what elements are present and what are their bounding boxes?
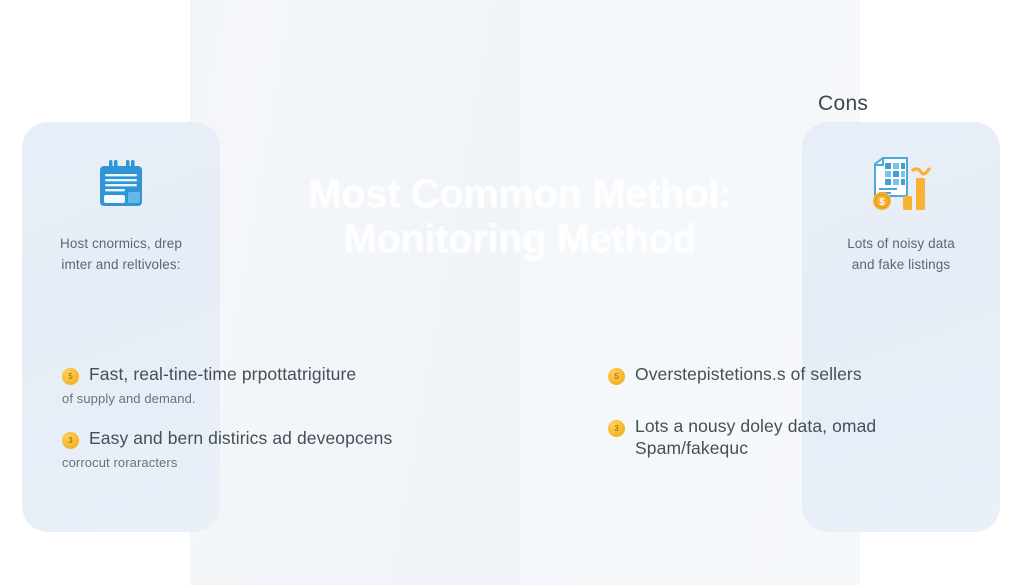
bullet-text: Lots a nousy doley data, omad Spam/fakeq… [635, 416, 876, 460]
slide-canvas: Most Common Methol: Monitoring Method Ho… [0, 0, 1024, 585]
bullet-text: Fast, real-tine-time prpottatrigiture [89, 364, 356, 386]
bullet-spacer [608, 390, 938, 416]
bullet-subtext: corrocut roraracters [62, 454, 462, 472]
bullet-text: Easy and bern distirics ad deveopcens [89, 428, 392, 450]
page-title: Most Common Methol: Monitoring Method [250, 172, 790, 262]
bullet-text-line2: Spam/fakequc [635, 438, 876, 460]
pros-caption-line1: Host cnormics, drep [34, 234, 208, 255]
page-title-line1: Most Common Methol: [308, 172, 731, 216]
list-item[interactable]: 5 Overstepistetions.s of sellers [608, 364, 938, 386]
bullet-badge-icon: 5 [62, 368, 79, 385]
spreadsheet-chart-money-icon: $ [802, 148, 1000, 222]
cons-card[interactable]: $ Lots of noisy data and fake listings [802, 122, 1000, 532]
notepad-document-icon [22, 148, 220, 222]
pros-card-caption: Host cnormics, drep imter and reltivoles… [34, 234, 208, 276]
bullet-subtext: of supply and demand. [62, 390, 462, 408]
list-item[interactable]: 5 Fast, real-tine-time prpottatrigiture [62, 364, 462, 386]
list-item[interactable]: 3 Easy and bern distirics ad deveopcens [62, 428, 462, 450]
bullet-text-line1: Lots a nousy doley data, omad [635, 416, 876, 436]
bullet-badge-icon: 3 [62, 432, 79, 449]
bullet-text: Overstepistetions.s of sellers [635, 364, 862, 386]
bullet-badge-icon: 3 [608, 420, 625, 437]
list-item[interactable]: 3 Lots a nousy doley data, omad Spam/fak… [608, 416, 938, 460]
cons-bullet-list: 5 Overstepistetions.s of sellers 3 Lots … [608, 364, 938, 464]
pros-bullet-list: 5 Fast, real-tine-time prpottatrigiture … [62, 364, 462, 492]
background-band-mid-a [190, 0, 520, 585]
bullet-badge-icon: 5 [608, 368, 625, 385]
cons-caption-line1: Lots of noisy data [814, 234, 988, 255]
cons-heading: Cons [818, 92, 868, 116]
pros-caption-line2: imter and reltivoles: [34, 255, 208, 276]
svg-text:$: $ [879, 197, 885, 208]
cons-caption-line2: and fake listings [814, 255, 988, 276]
cons-card-caption: Lots of noisy data and fake listings [814, 234, 988, 276]
page-title-line2: Monitoring Method [250, 217, 790, 262]
